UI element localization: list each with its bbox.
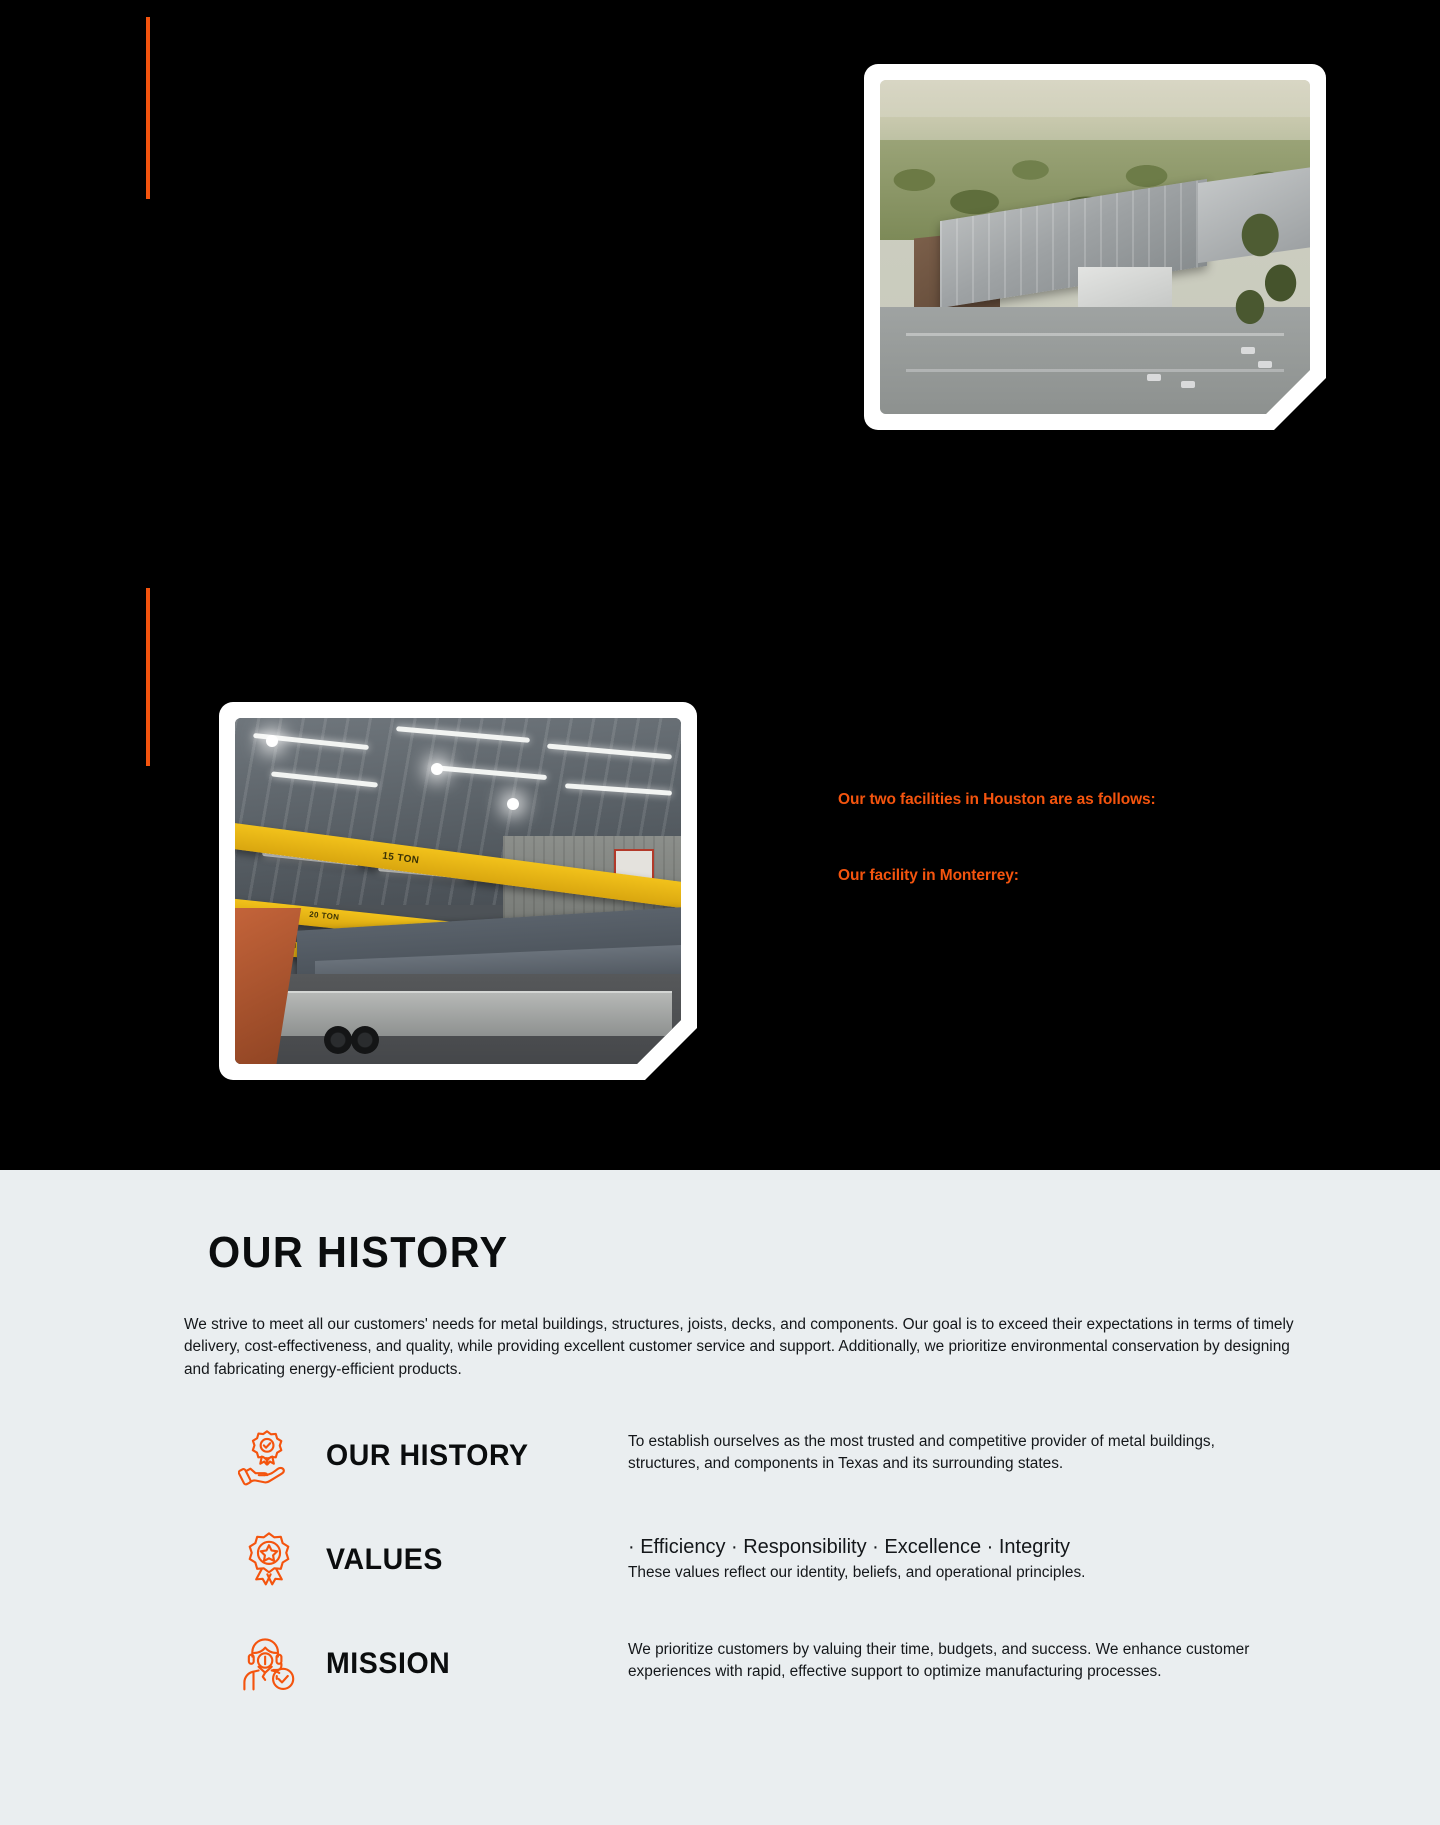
warehouse-photo-inner: 15 TON 20 TON 20 TON bbox=[235, 718, 681, 1064]
hero-section: 15 TON 20 TON 20 TON Our two facilities … bbox=[0, 0, 1440, 1170]
feature-label-values: VALUES bbox=[326, 1543, 443, 1577]
feature-head-mission: MISSION bbox=[238, 1625, 628, 1695]
support-agent-check-icon bbox=[238, 1633, 300, 1695]
feature-body-our-history: To establish ourselves as the most trust… bbox=[628, 1417, 1320, 1475]
award-ribbon-star-icon bbox=[238, 1529, 300, 1591]
aerial-facility-photo bbox=[864, 64, 1326, 430]
history-section: OUR HISTORY We strive to meet all our cu… bbox=[0, 1170, 1440, 1825]
feature-desc-our-history: To establish ourselves as the most trust… bbox=[628, 1431, 1268, 1475]
aerial-photo-inner bbox=[880, 80, 1310, 414]
aerial-photo-art bbox=[880, 80, 1310, 414]
crane-label-20ton: 20 TON bbox=[309, 910, 340, 922]
monterrey-facility-caption: Our facility in Monterrey: bbox=[838, 866, 1298, 886]
feature-row-mission: MISSION We prioritize customers by valui… bbox=[238, 1625, 1320, 1729]
feature-body-mission: We prioritize customers by valuing their… bbox=[628, 1625, 1320, 1683]
houston-facilities-caption: Our two facilities in Houston are as fol… bbox=[838, 790, 1298, 810]
warehouse-photo-art: 15 TON 20 TON 20 TON bbox=[235, 718, 681, 1064]
feature-label-mission: MISSION bbox=[326, 1647, 450, 1681]
hand-holding-badge-icon bbox=[238, 1425, 300, 1487]
feature-desc-mission: We prioritize customers by valuing their… bbox=[628, 1639, 1268, 1683]
feature-label-our-history: OUR HISTORY bbox=[326, 1439, 529, 1473]
feature-row-our-history: OUR HISTORY To establish ourselves as th… bbox=[238, 1417, 1320, 1521]
hero-caption-group: Our two facilities in Houston are as fol… bbox=[838, 790, 1298, 886]
feature-lead-values: · Efficiency · Responsibility · Excellen… bbox=[628, 1535, 1320, 1560]
accent-line-middle bbox=[146, 588, 150, 766]
history-intro-paragraph: We strive to meet all our customers' nee… bbox=[184, 1314, 1296, 1381]
feature-body-values: · Efficiency · Responsibility · Excellen… bbox=[628, 1521, 1320, 1584]
feature-head-values: VALUES bbox=[238, 1521, 628, 1591]
accent-line-top bbox=[146, 17, 150, 199]
warehouse-interior-photo: 15 TON 20 TON 20 TON bbox=[219, 702, 697, 1080]
crane-label-15ton: 15 TON bbox=[382, 851, 420, 867]
feature-list: OUR HISTORY To establish ourselves as th… bbox=[238, 1417, 1320, 1729]
feature-head-our-history: OUR HISTORY bbox=[238, 1417, 628, 1487]
page-title: OUR HISTORY bbox=[208, 1170, 1253, 1278]
feature-row-values: VALUES · Efficiency · Responsibility · E… bbox=[238, 1521, 1320, 1625]
feature-desc-values: These values reflect our identity, belie… bbox=[628, 1562, 1268, 1584]
